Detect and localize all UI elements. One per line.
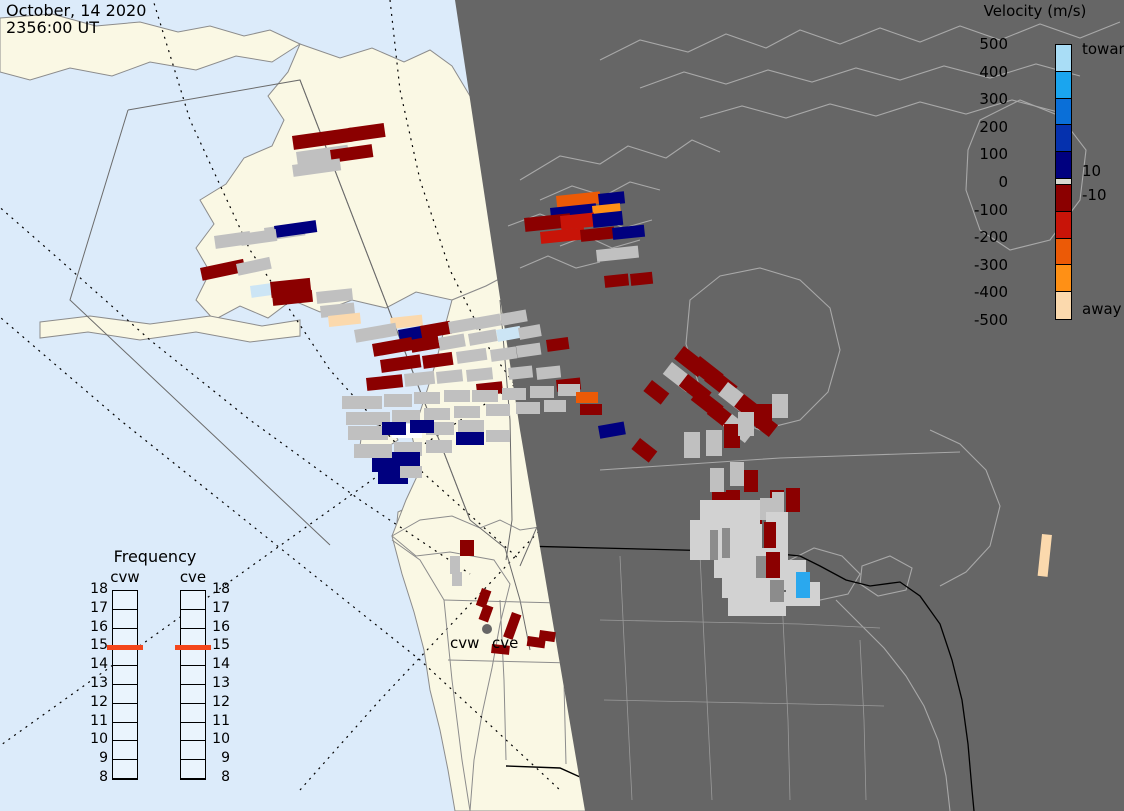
- colorbar-tick--200: -200: [938, 228, 1008, 246]
- frequency-scale-label-cve-17: 17: [208, 600, 230, 616]
- colorbar-tick--100: -100: [938, 201, 1008, 219]
- colorbar-tick-500: 500: [938, 35, 1008, 53]
- frequency-cell: [113, 685, 137, 704]
- frequency-scale-label-cve-10: 10: [208, 731, 230, 747]
- frequency-legend[interactable]: Frequency cvw cve 18171615141312111098 1…: [80, 545, 260, 790]
- colorbar-segment--100--10: [1056, 185, 1071, 212]
- colorbar-segment--300--200: [1056, 239, 1071, 266]
- radar-map-figure: October, 14 20202356:00 UT cvw cve Veloc…: [0, 0, 1124, 811]
- frequency-cell: [113, 760, 137, 779]
- colorbar-segment--500--400: [1056, 292, 1071, 319]
- frequency-scale-label-cve-18: 18: [208, 581, 230, 597]
- colorbar-tick-100: 100: [938, 145, 1008, 163]
- frequency-scale-label-cve-12: 12: [208, 694, 230, 710]
- frequency-cell: [181, 723, 205, 742]
- frequency-scale-label-cvw-15: 15: [86, 637, 108, 653]
- frequency-cell: [181, 704, 205, 723]
- colorbar-toward-label: toward: [1082, 40, 1124, 58]
- colorbar-title: Velocity (m/s): [960, 2, 1110, 20]
- colorbar-segment-400-500: [1056, 45, 1071, 72]
- frequency-cell: [113, 666, 137, 685]
- site-label-cve: cve: [492, 634, 518, 652]
- frequency-scale-label-cvw-17: 17: [86, 600, 108, 616]
- frequency-scale-label-cve-11: 11: [208, 713, 230, 729]
- frequency-scale-label-cvw-9: 9: [86, 750, 108, 766]
- frequency-cell: [113, 704, 137, 723]
- frequency-scale-label-cve-16: 16: [208, 619, 230, 635]
- frequency-scale-label-cvw-12: 12: [86, 694, 108, 710]
- colorbar-tick--500: -500: [938, 311, 1008, 329]
- time-label: 2356:00 UT: [6, 18, 99, 37]
- frequency-cell: [181, 666, 205, 685]
- frequency-cell: [181, 741, 205, 760]
- colorbar-segment-300-400: [1056, 72, 1071, 99]
- frequency-header-cvw: cvw: [102, 568, 148, 586]
- frequency-scale-label-cve-8: 8: [208, 769, 230, 785]
- frequency-cell: [113, 741, 137, 760]
- colorbar-away-label: away: [1082, 300, 1122, 318]
- colorbar-negative-threshold-label: -10: [1082, 186, 1107, 204]
- frequency-scale-label-cvw-14: 14: [86, 656, 108, 672]
- frequency-bar-cvw[interactable]: [112, 590, 138, 780]
- site-label-cvw: cvw: [450, 634, 479, 652]
- frequency-scale-label-cve-15: 15: [208, 637, 230, 653]
- colorbar-tick-400: 400: [938, 63, 1008, 81]
- colorbar-segment-100-200: [1056, 125, 1071, 152]
- frequency-scale-label-cvw-10: 10: [86, 731, 108, 747]
- frequency-legend-title: Frequency: [80, 547, 230, 566]
- frequency-marker-cvw: [107, 645, 143, 650]
- frequency-marker-cve: [175, 645, 211, 650]
- frequency-scale-label-cve-13: 13: [208, 675, 230, 691]
- colorbar-segment--200--100: [1056, 212, 1071, 239]
- velocity-colorbar[interactable]: Velocity (m/s) 5004003002001000-100-200-…: [960, 0, 1124, 340]
- frequency-scale-label-cve-9: 9: [208, 750, 230, 766]
- frequency-cell: [181, 591, 205, 610]
- frequency-scale-label-cve-14: 14: [208, 656, 230, 672]
- colorbar-tick--400: -400: [938, 283, 1008, 301]
- frequency-bar-cve[interactable]: [180, 590, 206, 780]
- colorbar-positive-threshold-label: 10: [1082, 162, 1101, 180]
- frequency-cell: [113, 591, 137, 610]
- frequency-scale-label-cvw-8: 8: [86, 769, 108, 785]
- colorbar-tick-300: 300: [938, 90, 1008, 108]
- frequency-cell: [113, 723, 137, 742]
- radar-site-marker[interactable]: [482, 624, 492, 634]
- frequency-cell: [181, 685, 205, 704]
- colorbar-segment-200-300: [1056, 99, 1071, 126]
- timestamp-block: October, 14 20202356:00 UT: [6, 2, 146, 36]
- colorbar-gradient[interactable]: [1055, 44, 1072, 320]
- colorbar-tick-200: 200: [938, 118, 1008, 136]
- colorbar-tick-0: 0: [938, 173, 1008, 191]
- frequency-scale-label-cvw-11: 11: [86, 713, 108, 729]
- frequency-cell: [181, 610, 205, 629]
- frequency-scale-label-cvw-18: 18: [86, 581, 108, 597]
- frequency-scale-label-cvw-16: 16: [86, 619, 108, 635]
- frequency-cell: [181, 760, 205, 779]
- frequency-cell: [113, 610, 137, 629]
- colorbar-tick--300: -300: [938, 256, 1008, 274]
- colorbar-segment-10-100: [1056, 152, 1071, 179]
- colorbar-segment--400--300: [1056, 265, 1071, 292]
- frequency-scale-label-cvw-13: 13: [86, 675, 108, 691]
